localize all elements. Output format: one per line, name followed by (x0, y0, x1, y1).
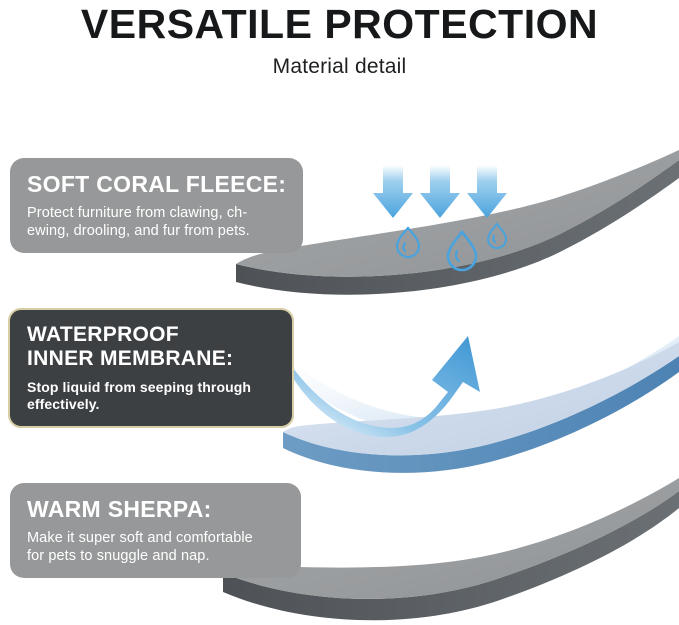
infographic-page: VERSATILE PROTECTION Material detail (0, 0, 679, 625)
droplet-icon (488, 224, 506, 248)
water-arrows-down (373, 165, 507, 218)
membrane-layer-edge (283, 356, 679, 473)
callout-body: Protect furniture from clawing, ch- ewin… (27, 197, 287, 240)
callout-title: SOFT CORAL FLEECE: (27, 171, 287, 197)
membrane-layer-top (283, 342, 679, 455)
page-subtitle: Material detail (0, 46, 679, 79)
droplet-icon (397, 228, 419, 257)
header: VERSATILE PROTECTION Material detail (0, 0, 679, 79)
callout-body: Make it super soft and comfortable for p… (27, 522, 285, 565)
callout-soft-coral-fleece: SOFT CORAL FLEECE: Protect furniture fro… (10, 158, 303, 253)
callout-waterproof-inner-membrane: WATERPROOF INNER MEMBRANE: Stop liquid f… (8, 308, 294, 428)
arrow-down-icon (420, 165, 460, 218)
callout-title: WARM SHERPA: (27, 496, 285, 522)
water-droplets (397, 224, 506, 270)
callout-body: Stop liquid from seeping through effecti… (27, 371, 276, 413)
droplet-icon (404, 243, 406, 251)
droplet-icon (448, 232, 476, 270)
droplet-icon (493, 236, 495, 242)
callout-title: WATERPROOF INNER MEMBRANE: (27, 323, 276, 371)
layer-membrane-graphic (283, 336, 679, 473)
droplet-icon (456, 251, 459, 261)
arrow-up-curved-icon (293, 336, 480, 437)
arrow-down-icon (373, 165, 413, 218)
membrane-mist (292, 336, 679, 437)
page-title: VERSATILE PROTECTION (0, 0, 679, 46)
callout-warm-sherpa: WARM SHERPA: Make it super soft and comf… (10, 483, 301, 578)
arrow-down-icon (467, 165, 507, 218)
